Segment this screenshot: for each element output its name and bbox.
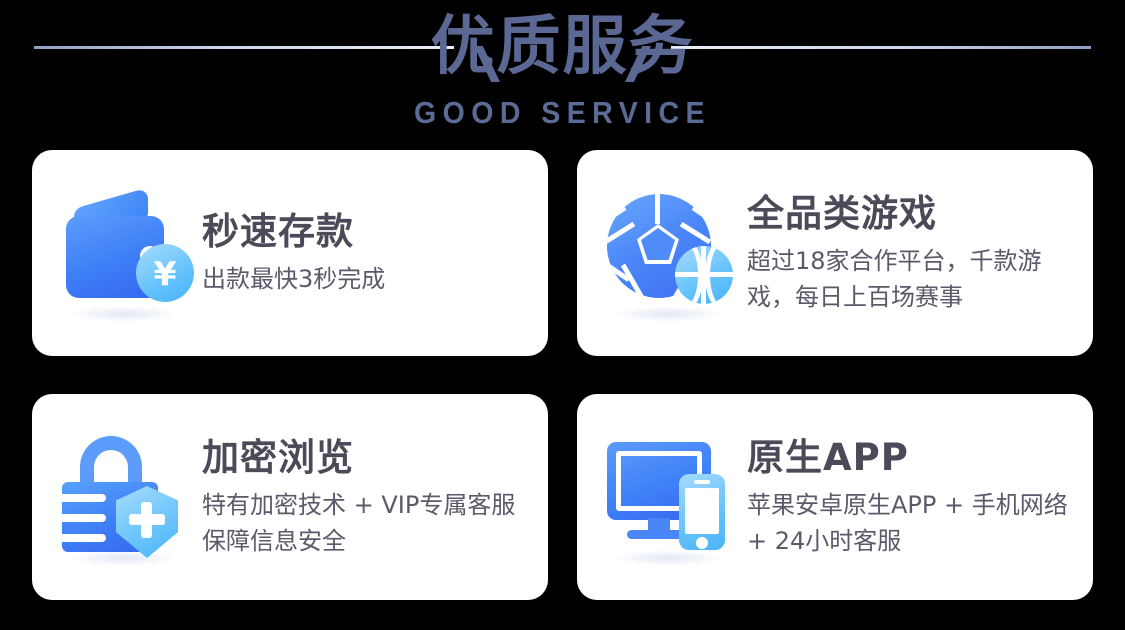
- feature-card-grid: ¥ 秒速存款 出款最快3秒完成: [32, 150, 1093, 600]
- wallet-icon: ¥: [58, 188, 194, 318]
- page-title: 优质服务: [0, 6, 1125, 88]
- plus-icon: [141, 502, 152, 538]
- page-header: 优质服务 GOOD SERVICE: [0, 0, 1125, 140]
- feature-card-encryption[interactable]: 加密浏览 特有加密技术 + VIP专属客服保障信息安全: [32, 394, 548, 600]
- card-subtitle: 出款最快3秒完成: [202, 261, 385, 297]
- card-subtitle: 超过18家合作平台，千款游戏，每日上百场赛事: [747, 243, 1077, 315]
- icon-shadow: [613, 306, 723, 322]
- soccer-seam: [621, 264, 646, 298]
- soccer-seam: [680, 222, 711, 244]
- icon-shadow: [68, 306, 178, 322]
- card-text-block: 原生APP 苹果安卓原生APP + 手机网络 + 24小时客服: [739, 435, 1091, 559]
- card-subtitle: 特有加密技术 + VIP专属客服保障信息安全: [202, 487, 532, 559]
- card-title: 原生APP: [747, 435, 1077, 481]
- monitor-phone-icon: [603, 432, 739, 562]
- feature-card-native-app[interactable]: 原生APP 苹果安卓原生APP + 手机网络 + 24小时客服: [577, 394, 1093, 600]
- icon-shadow: [613, 550, 723, 566]
- lock-shield-icon: [58, 432, 194, 562]
- feature-card-deposit[interactable]: ¥ 秒速存款 出款最快3秒完成: [32, 150, 548, 356]
- soccer-seam: [607, 222, 635, 244]
- basketball-curve: [675, 246, 703, 304]
- basketball-icon: [675, 246, 733, 304]
- card-subtitle: 苹果安卓原生APP + 手机网络 + 24小时客服: [747, 487, 1077, 559]
- yen-coin-icon: ¥: [136, 244, 194, 302]
- icon-shadow: [68, 550, 178, 566]
- card-text-block: 加密浏览 特有加密技术 + VIP专属客服保障信息安全: [194, 435, 546, 559]
- phone-speaker: [694, 480, 710, 484]
- soccer-basketball-icon: [603, 188, 739, 318]
- page-subtitle: GOOD SERVICE: [45, 96, 1080, 130]
- card-text-block: 秒速存款 出款最快3秒完成: [194, 209, 399, 297]
- card-title: 加密浏览: [202, 435, 532, 481]
- card-title: 秒速存款: [202, 209, 385, 255]
- soccer-seam: [655, 194, 660, 224]
- soccer-seam: [607, 206, 626, 224]
- phone-home-button: [696, 537, 708, 549]
- lock-slot: [62, 534, 106, 542]
- basketball-curve: [705, 246, 733, 304]
- phone-screen: [685, 488, 719, 534]
- card-text-block: 全品类游戏 超过18家合作平台，千款游戏，每日上百场赛事: [739, 191, 1091, 315]
- feature-card-games[interactable]: 全品类游戏 超过18家合作平台，千款游戏，每日上百场赛事: [577, 150, 1093, 356]
- lock-slot: [62, 514, 106, 522]
- yen-symbol: ¥: [154, 257, 177, 290]
- lock-slot: [62, 494, 106, 502]
- card-title: 全品类游戏: [747, 191, 1077, 237]
- soccer-seam: [692, 206, 711, 224]
